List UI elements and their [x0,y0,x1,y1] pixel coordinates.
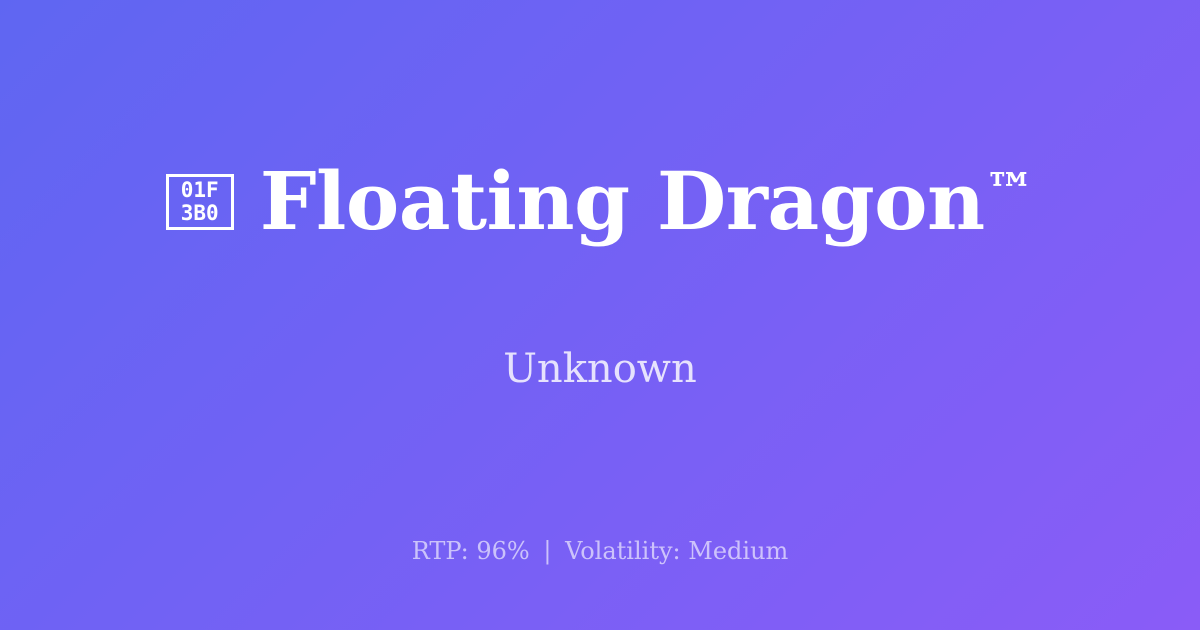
tofu-codepoint-line2: 3B0 [181,202,219,225]
rtp-value: 96% [476,537,529,565]
slot-machine-icon: 01F 3B0 [166,174,234,230]
volatility-value: Medium [688,537,788,565]
hero-block: 01F 3B0 Floating Dragon™ Unknown [0,0,1200,500]
stats-separator: | [537,537,557,565]
game-og-card: 01F 3B0 Floating Dragon™ Unknown RTP: 96… [0,0,1200,630]
game-stats-line: RTP: 96% | Volatility: Medium [0,537,1200,566]
title-row: 01F 3B0 Floating Dragon™ [166,107,1035,297]
page-title-text: Floating Dragon [260,154,985,248]
volatility-label: Volatility: [565,537,681,565]
tofu-codepoint-line1: 01F [181,179,219,202]
rtp-label: RTP: [412,537,469,565]
page-title: Floating Dragon™ [260,160,1035,243]
trademark-symbol: ™ [985,162,1035,221]
provider-subtitle: Unknown [503,345,697,393]
